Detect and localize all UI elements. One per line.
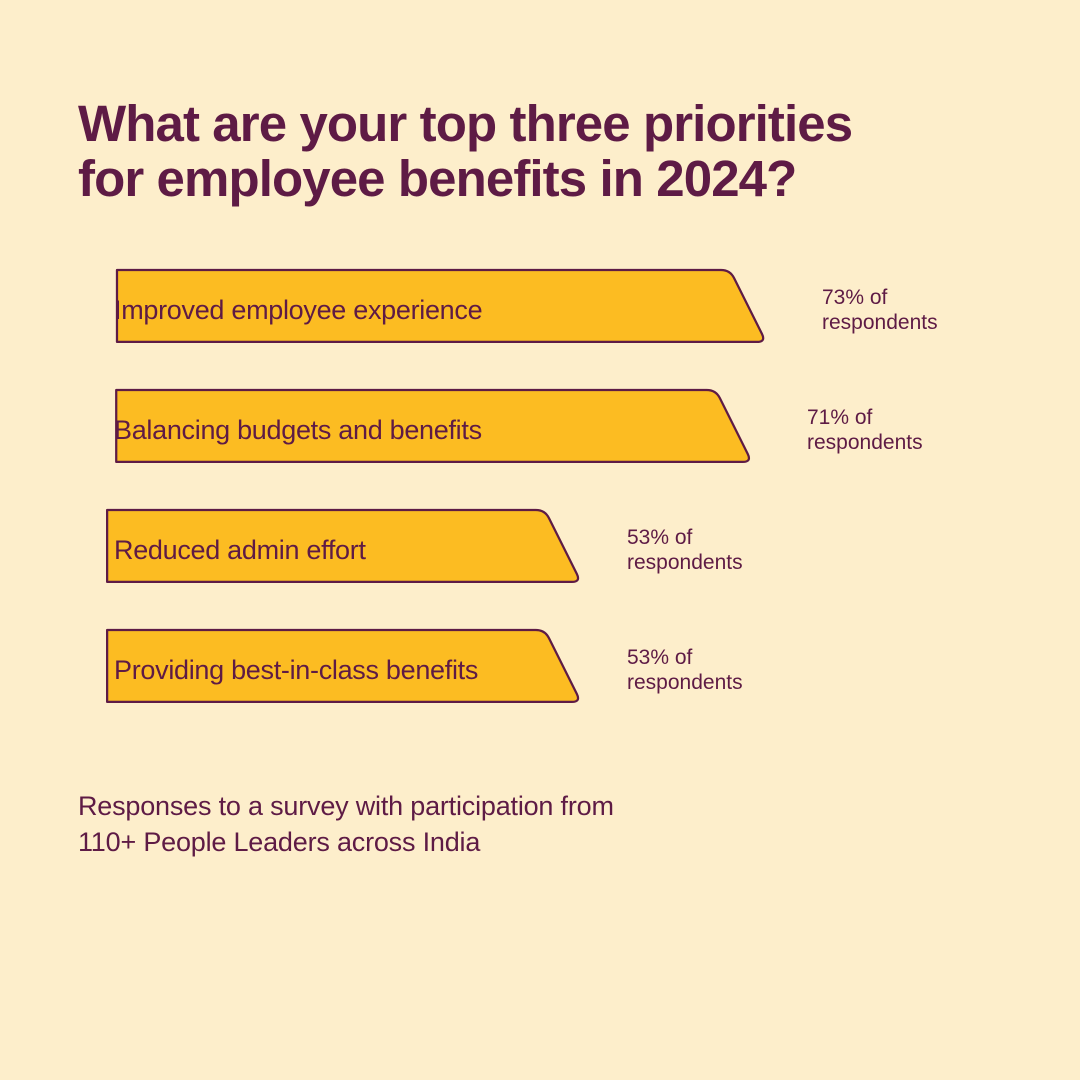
bar-row: Balancing budgets and benefits71% ofresp… (0, 390, 1080, 470)
priorities-bar-chart: Improved employee experience73% ofrespon… (0, 270, 1080, 750)
bar-shape (78, 508, 614, 588)
bar-value-unit: respondents (627, 550, 743, 575)
bar-row: Reduced admin effort53% ofrespondents (0, 510, 1080, 590)
bar-value-unit: respondents (822, 310, 938, 335)
bar-value-label: 71% ofrespondents (807, 390, 923, 470)
bar-value-percent: 71% of (807, 405, 923, 430)
bar-value-label: 53% ofrespondents (627, 510, 743, 590)
bar-value-unit: respondents (807, 430, 923, 455)
bar-value-label: 53% ofrespondents (627, 630, 743, 710)
bar-value-percent: 53% of (627, 525, 743, 550)
bar-value-percent: 53% of (627, 645, 743, 670)
bar-value-percent: 73% of (822, 285, 938, 310)
bar-shape (78, 628, 614, 708)
bar-row: Providing best-in-class benefits53% ofre… (0, 630, 1080, 710)
bar-shape (78, 388, 794, 468)
footer-note: Responses to a survey with participation… (78, 788, 898, 860)
bar-shape (78, 268, 809, 348)
page-title: What are your top three priorities for e… (78, 96, 958, 206)
bar-row: Improved employee experience73% ofrespon… (0, 270, 1080, 350)
infographic-canvas: What are your top three priorities for e… (0, 0, 1080, 1080)
bar-value-unit: respondents (627, 670, 743, 695)
bar-value-label: 73% ofrespondents (822, 270, 938, 350)
